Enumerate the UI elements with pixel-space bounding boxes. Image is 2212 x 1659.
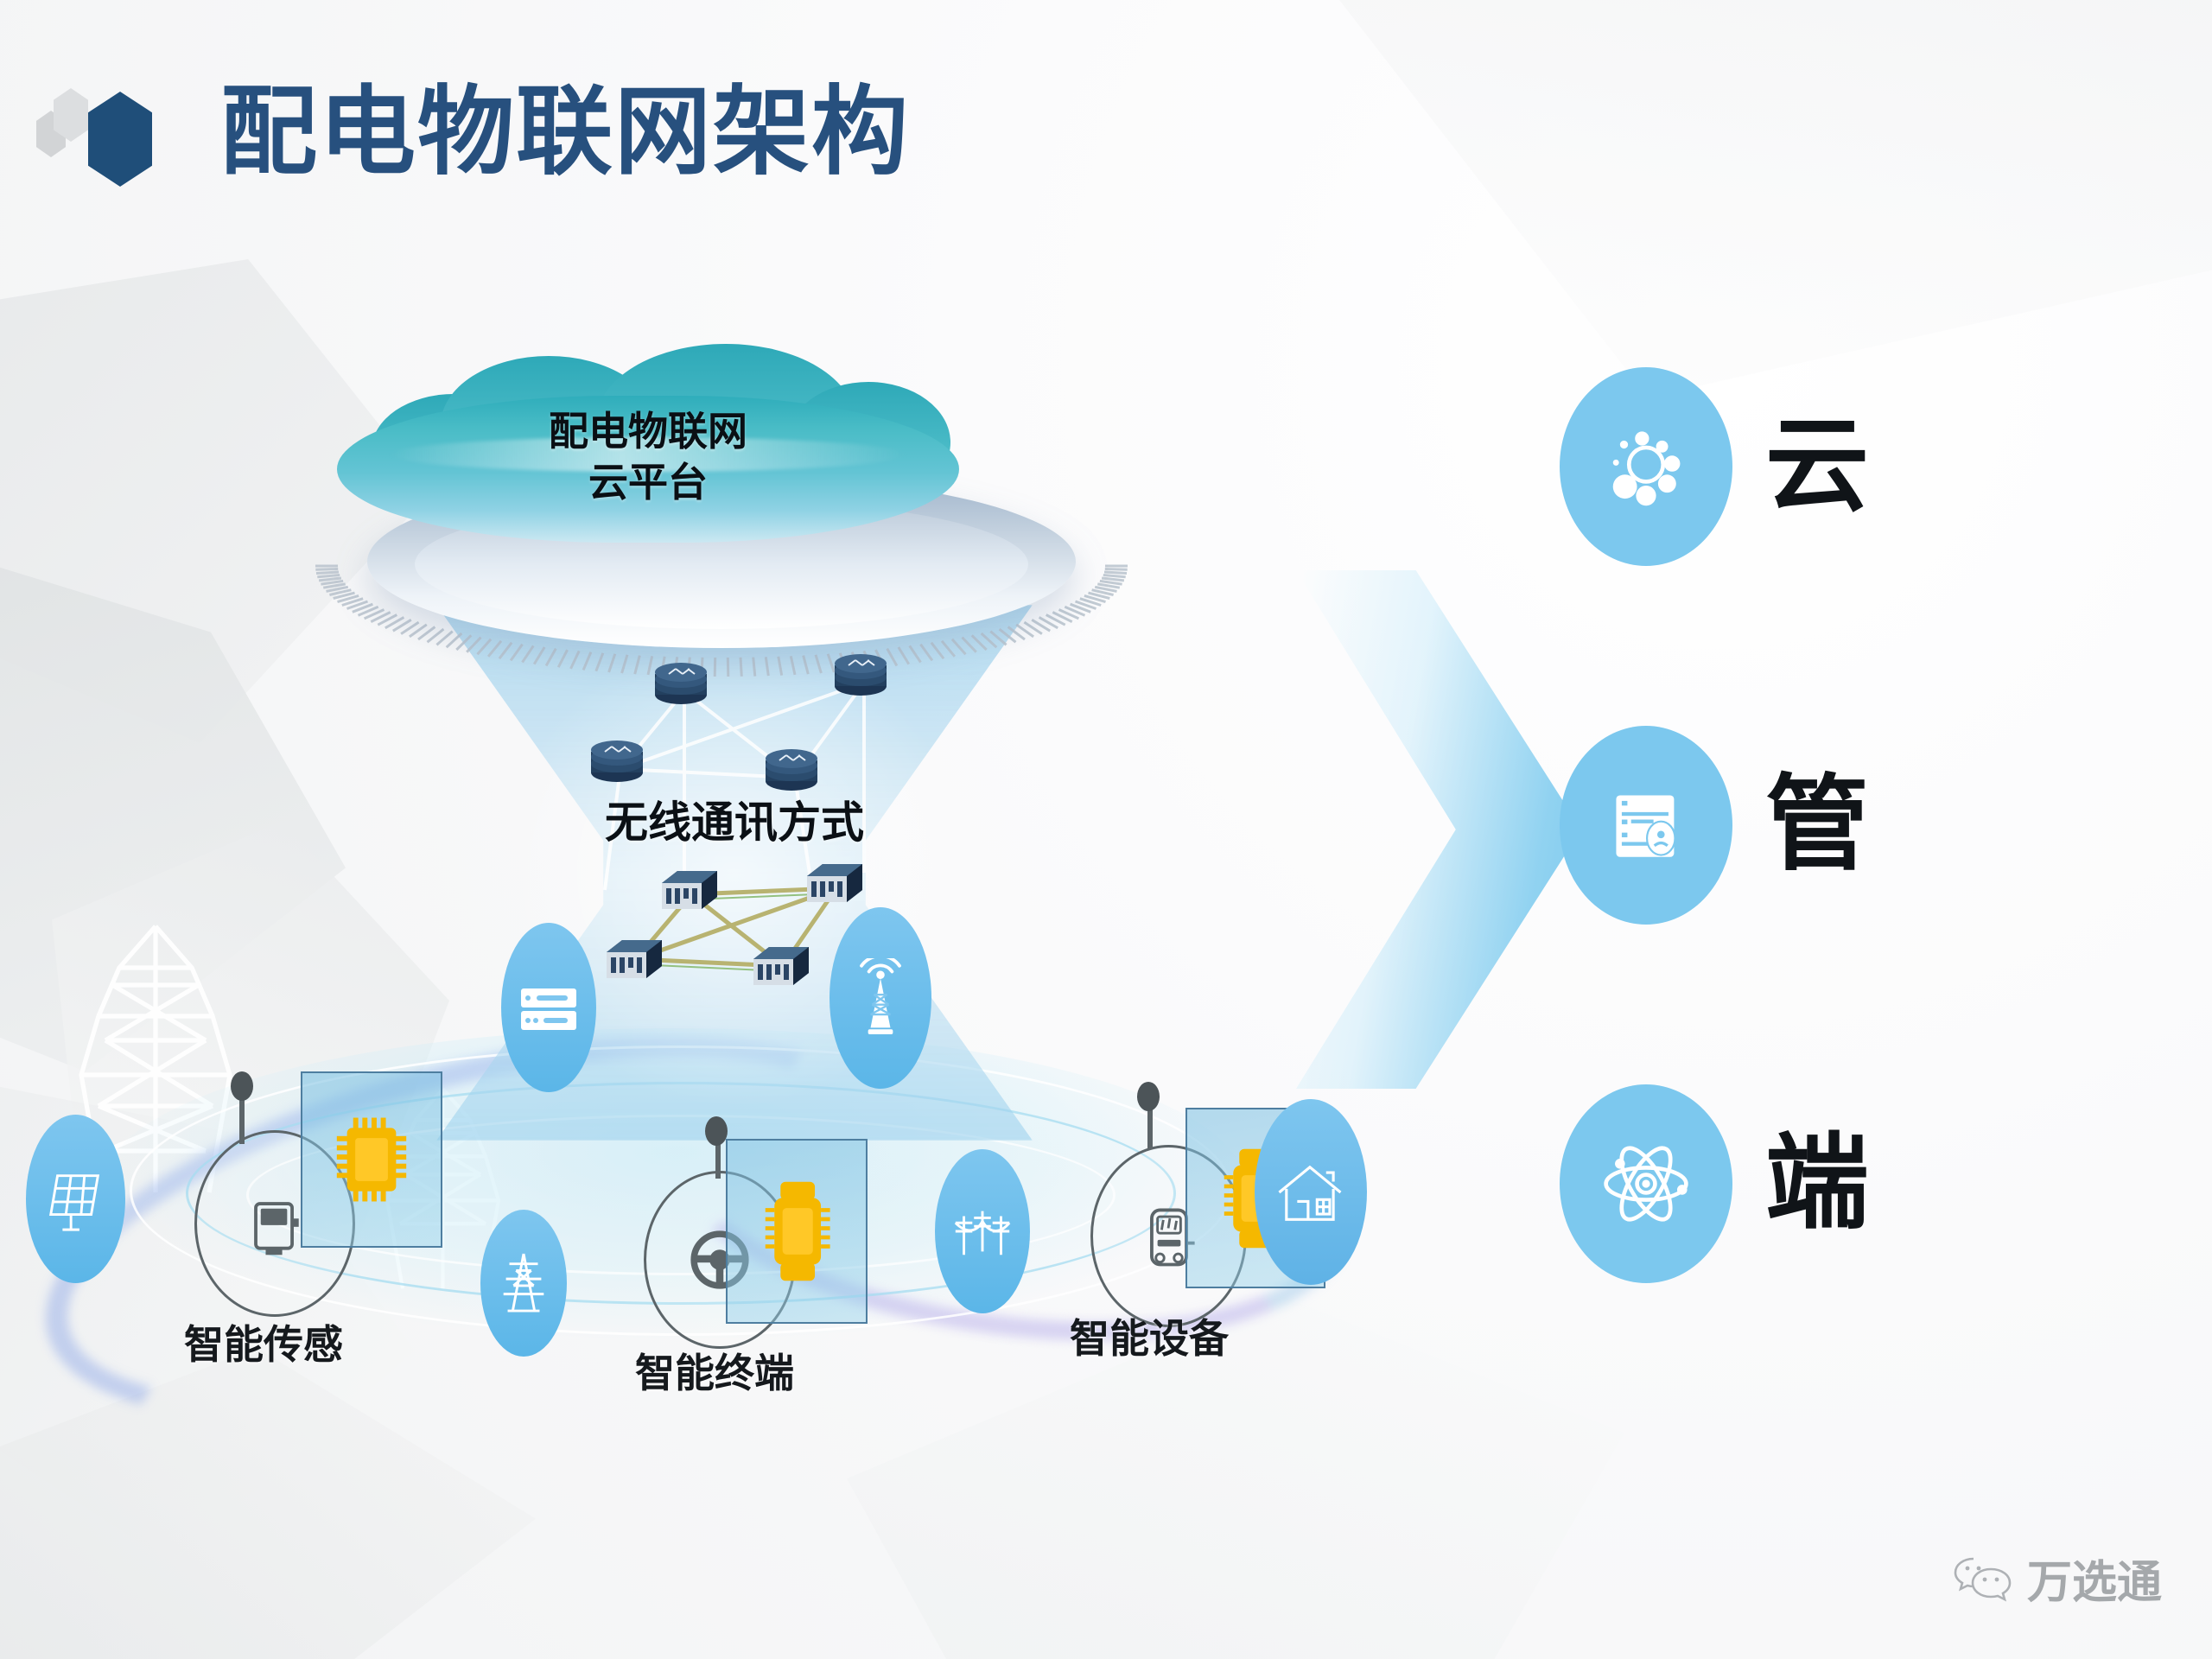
cloud-platform-label: 配电物联网 云平台 [337, 406, 959, 508]
server-rack-icon [1560, 726, 1732, 925]
watermark: 万选通 [1953, 1546, 2162, 1611]
stage-device[interactable]: 端 [1560, 1084, 1869, 1283]
page-title: 配电物联网架构 [220, 79, 910, 186]
smart-watch-chip-icon [726, 1139, 868, 1324]
smart-home-icon [1255, 1099, 1367, 1285]
hexagon-icon [88, 92, 152, 187]
server-icon [501, 923, 596, 1092]
stage-label-cloud: 云 [1765, 415, 1869, 518]
router-icon [650, 657, 712, 709]
network-switch-icon [603, 935, 665, 985]
router-icon [760, 743, 823, 795]
stage-label-device: 端 [1765, 1132, 1869, 1236]
router-icon [586, 734, 648, 786]
network-switch-icon [750, 942, 812, 992]
wireless-communication-label: 无线通讯方式 [536, 788, 933, 850]
stage-cloud[interactable]: 云 [1560, 367, 1869, 566]
slide-header: 配电物联网架构 [0, 35, 1210, 173]
antenna-pin-head [231, 1071, 253, 1101]
cloud-platform-icon: 配电物联网 云平台 [337, 344, 959, 543]
slide-canvas: 配电物联网架构 配电物联网 云平台 [0, 0, 2212, 1659]
wechat-icon [1953, 1554, 2012, 1604]
router-icon [829, 648, 892, 700]
cloud-label-line1: 配电物联网 [337, 406, 959, 457]
stage-pipe[interactable]: 管 [1560, 726, 1869, 925]
power-line-icon [935, 1149, 1030, 1313]
power-pylon-icon [480, 1210, 567, 1357]
network-switch-icon [658, 866, 721, 916]
cloud-dots-icon [1560, 367, 1732, 566]
cpu-chip-icon [301, 1071, 442, 1248]
solar-panel-icon [26, 1115, 125, 1283]
antenna-pin-head [705, 1116, 728, 1146]
stage-label-pipe: 管 [1765, 773, 1869, 877]
caption-intelligent-sensing: 智能传感 [184, 1313, 343, 1370]
cloud-label-line2: 云平台 [337, 457, 959, 508]
network-switch-icon [804, 859, 866, 909]
caption-intelligent-terminal: 智能终端 [635, 1342, 794, 1399]
watermark-text: 万选通 [2027, 1546, 2162, 1611]
antenna-pin-head [1137, 1082, 1160, 1111]
atom-icon [1560, 1084, 1732, 1283]
caption-intelligent-device: 智能设备 [1070, 1307, 1229, 1364]
antenna-tower-icon [829, 907, 931, 1089]
